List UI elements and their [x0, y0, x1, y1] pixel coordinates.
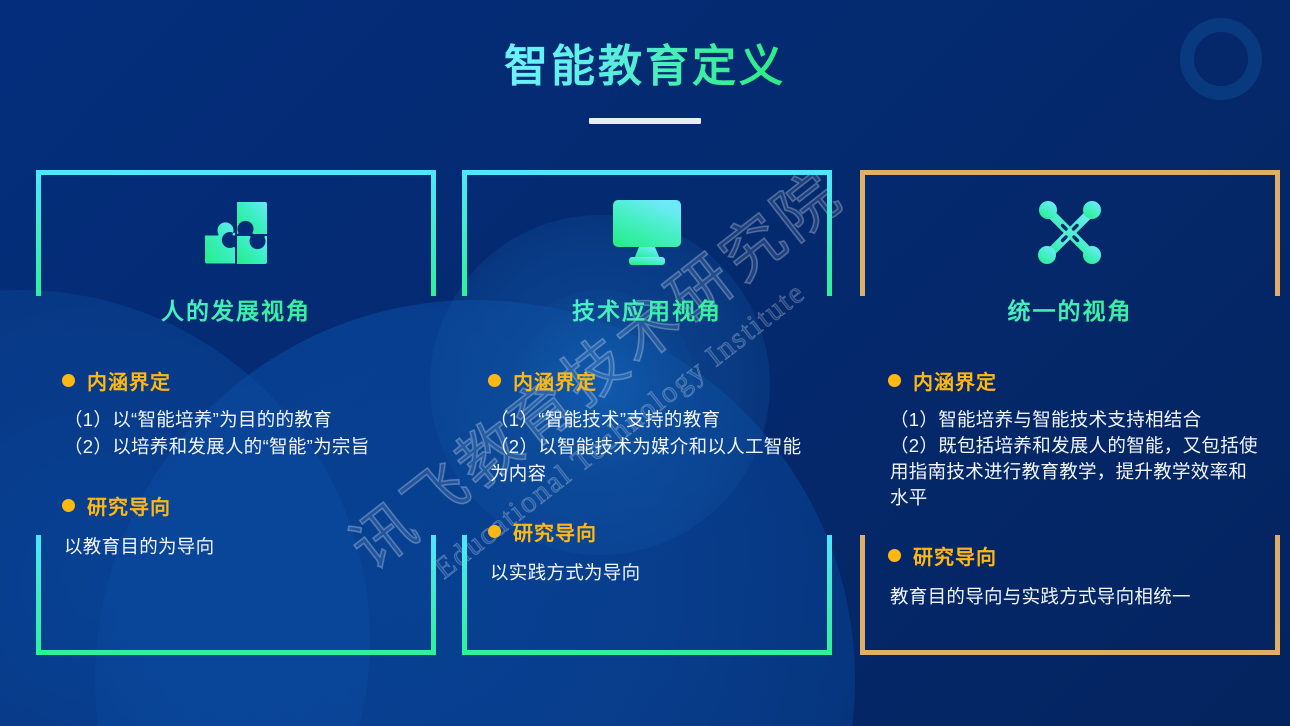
section-label: 内涵界定 — [913, 366, 997, 395]
interlaced-knot-icon — [860, 170, 1280, 288]
perspective-card-technology-application[interactable]: 技术应用视角 内涵界定 （1）“智能技术”支持的教育 （2）以智能技术为媒介和以… — [462, 170, 832, 655]
slide-header: 智能教育定义 — [0, 0, 1290, 124]
card-title: 人的发展视角 — [36, 292, 436, 326]
section-label: 内涵界定 — [87, 366, 171, 395]
section-heading-row: 研究导向 — [888, 541, 1264, 570]
bullet-dot-icon — [62, 374, 75, 387]
section-label: 研究导向 — [87, 491, 171, 520]
section-body-text: 以实践方式为导向 — [476, 560, 818, 587]
section-heading-row: 内涵界定 — [488, 366, 818, 395]
section-definition: 内涵界定 （1）“智能技术”支持的教育 （2）以智能技术为媒介和以人工智能为内容 — [462, 366, 832, 487]
section-orientation: 研究导向 以实践方式为导向 — [462, 517, 832, 587]
slide-canvas: 讯飞教育技术研究院 Educational Technology Institu… — [0, 0, 1290, 726]
monitor-screen-icon — [462, 170, 832, 288]
section-label: 研究导向 — [513, 517, 597, 546]
bullet-dot-icon — [888, 549, 901, 562]
perspective-card-unified[interactable]: 统一的视角 内涵界定 （1）智能培养与智能技术支持相结合 （2）既包括培养和发展… — [860, 170, 1280, 655]
section-body-text: 教育目的导向与实践方式导向相统一 — [876, 584, 1264, 610]
section-body-text: （1）智能培养与智能技术支持相结合 （2）既包括培养和发展人的智能，又包括使用指… — [876, 407, 1264, 511]
bullet-dot-icon — [888, 374, 901, 387]
section-definition: 内涵界定 （1）智能培养与智能技术支持相结合 （2）既包括培养和发展人的智能，又… — [860, 366, 1280, 511]
section-label: 研究导向 — [913, 541, 997, 570]
bullet-dot-icon — [488, 525, 501, 538]
columns-container: 人的发展视角 内涵界定 （1）以“智能培养”为目的的教育 （2）以培养和发展人的… — [0, 170, 1290, 660]
section-orientation: 研究导向 以教育目的为导向 — [36, 491, 436, 561]
bullet-dot-icon — [488, 374, 501, 387]
bullet-dot-icon — [62, 499, 75, 512]
section-heading-row: 研究导向 — [488, 517, 818, 546]
section-definition: 内涵界定 （1）以“智能培养”为目的的教育 （2）以培养和发展人的“智能”为宗旨 — [36, 366, 436, 461]
section-heading-row: 内涵界定 — [62, 366, 422, 395]
title-underline-rule — [589, 118, 701, 124]
section-label: 内涵界定 — [513, 366, 597, 395]
page-title: 智能教育定义 — [504, 30, 786, 94]
perspective-card-human-development[interactable]: 人的发展视角 内涵界定 （1）以“智能培养”为目的的教育 （2）以培养和发展人的… — [36, 170, 436, 655]
section-heading-row: 研究导向 — [62, 491, 422, 520]
card-title: 技术应用视角 — [462, 292, 832, 326]
section-body-text: （1）以“智能培养”为目的的教育 （2）以培养和发展人的“智能”为宗旨 — [50, 407, 422, 461]
card-title: 统一的视角 — [860, 292, 1280, 326]
section-heading-row: 内涵界定 — [888, 366, 1264, 395]
section-body-text: 以教育目的为导向 — [50, 534, 422, 561]
section-body-text: （1）“智能技术”支持的教育 （2）以智能技术为媒介和以人工智能为内容 — [476, 407, 818, 487]
section-orientation: 研究导向 教育目的导向与实践方式导向相统一 — [860, 541, 1280, 610]
puzzle-pieces-icon — [36, 170, 436, 288]
